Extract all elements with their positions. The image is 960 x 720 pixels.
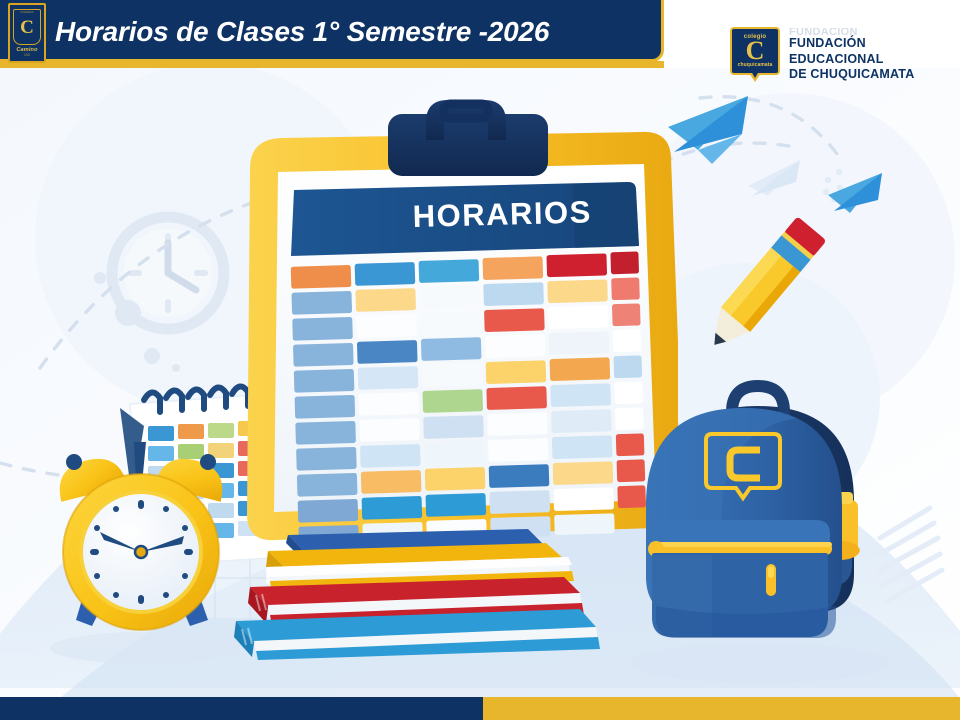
fundacion-logo-text: FUNDACIÓN FUNDACIÓN EDUCACIONAL DE CHUQU…: [789, 27, 914, 83]
fundacion-line-2: EDUCACIONAL: [789, 52, 914, 68]
fundacion-ghost-line: FUNDACIÓN: [789, 28, 914, 36]
backpack: [616, 366, 896, 641]
footer-bar: [0, 697, 960, 720]
crest-number: 100: [24, 53, 30, 57]
footer-navy-segment: [0, 697, 483, 720]
schedule-header-label: HORARIOS: [412, 194, 592, 234]
page-title: Horarios de Clases 1° Semestre -2026: [55, 16, 655, 52]
fundacion-line-3: DE CHUQUICAMATA: [789, 67, 914, 83]
footer-gold-segment: [483, 697, 960, 720]
pencil: [700, 205, 830, 360]
header-accent-underline: [0, 61, 664, 68]
pocket-flap: [652, 520, 830, 544]
slide-root: HORARIOS: [0, 0, 960, 720]
camino-100-crest: COLEGIO C Camino 100: [8, 3, 46, 63]
shield-bottom-text: chuquicamata: [738, 62, 773, 68]
fundacion-logo: colegio C chuquicamata FUNDACIÓN FUNDACI…: [730, 27, 950, 89]
clipboard-clip: [388, 100, 548, 176]
crest-monogram: C: [20, 18, 34, 37]
paper-plane-icon: [668, 96, 748, 164]
paper-plane-icon: [748, 160, 800, 196]
shield-monogram: C: [746, 40, 765, 62]
fundacion-line-1: FUNDACIÓN: [789, 36, 914, 52]
crest-top-text: COLEGIO: [20, 11, 33, 14]
colegio-chuquicamata-shield: colegio C chuquicamata: [730, 27, 780, 83]
paper-plane-small: [820, 155, 910, 235]
alarm-clock: [38, 436, 248, 636]
schedule-grid: [291, 251, 647, 546]
crest-shield: COLEGIO C: [13, 9, 41, 45]
book-stack: [228, 515, 618, 660]
clipboard: HORARIOS: [228, 96, 678, 556]
shield-tail-inner: [751, 71, 759, 78]
